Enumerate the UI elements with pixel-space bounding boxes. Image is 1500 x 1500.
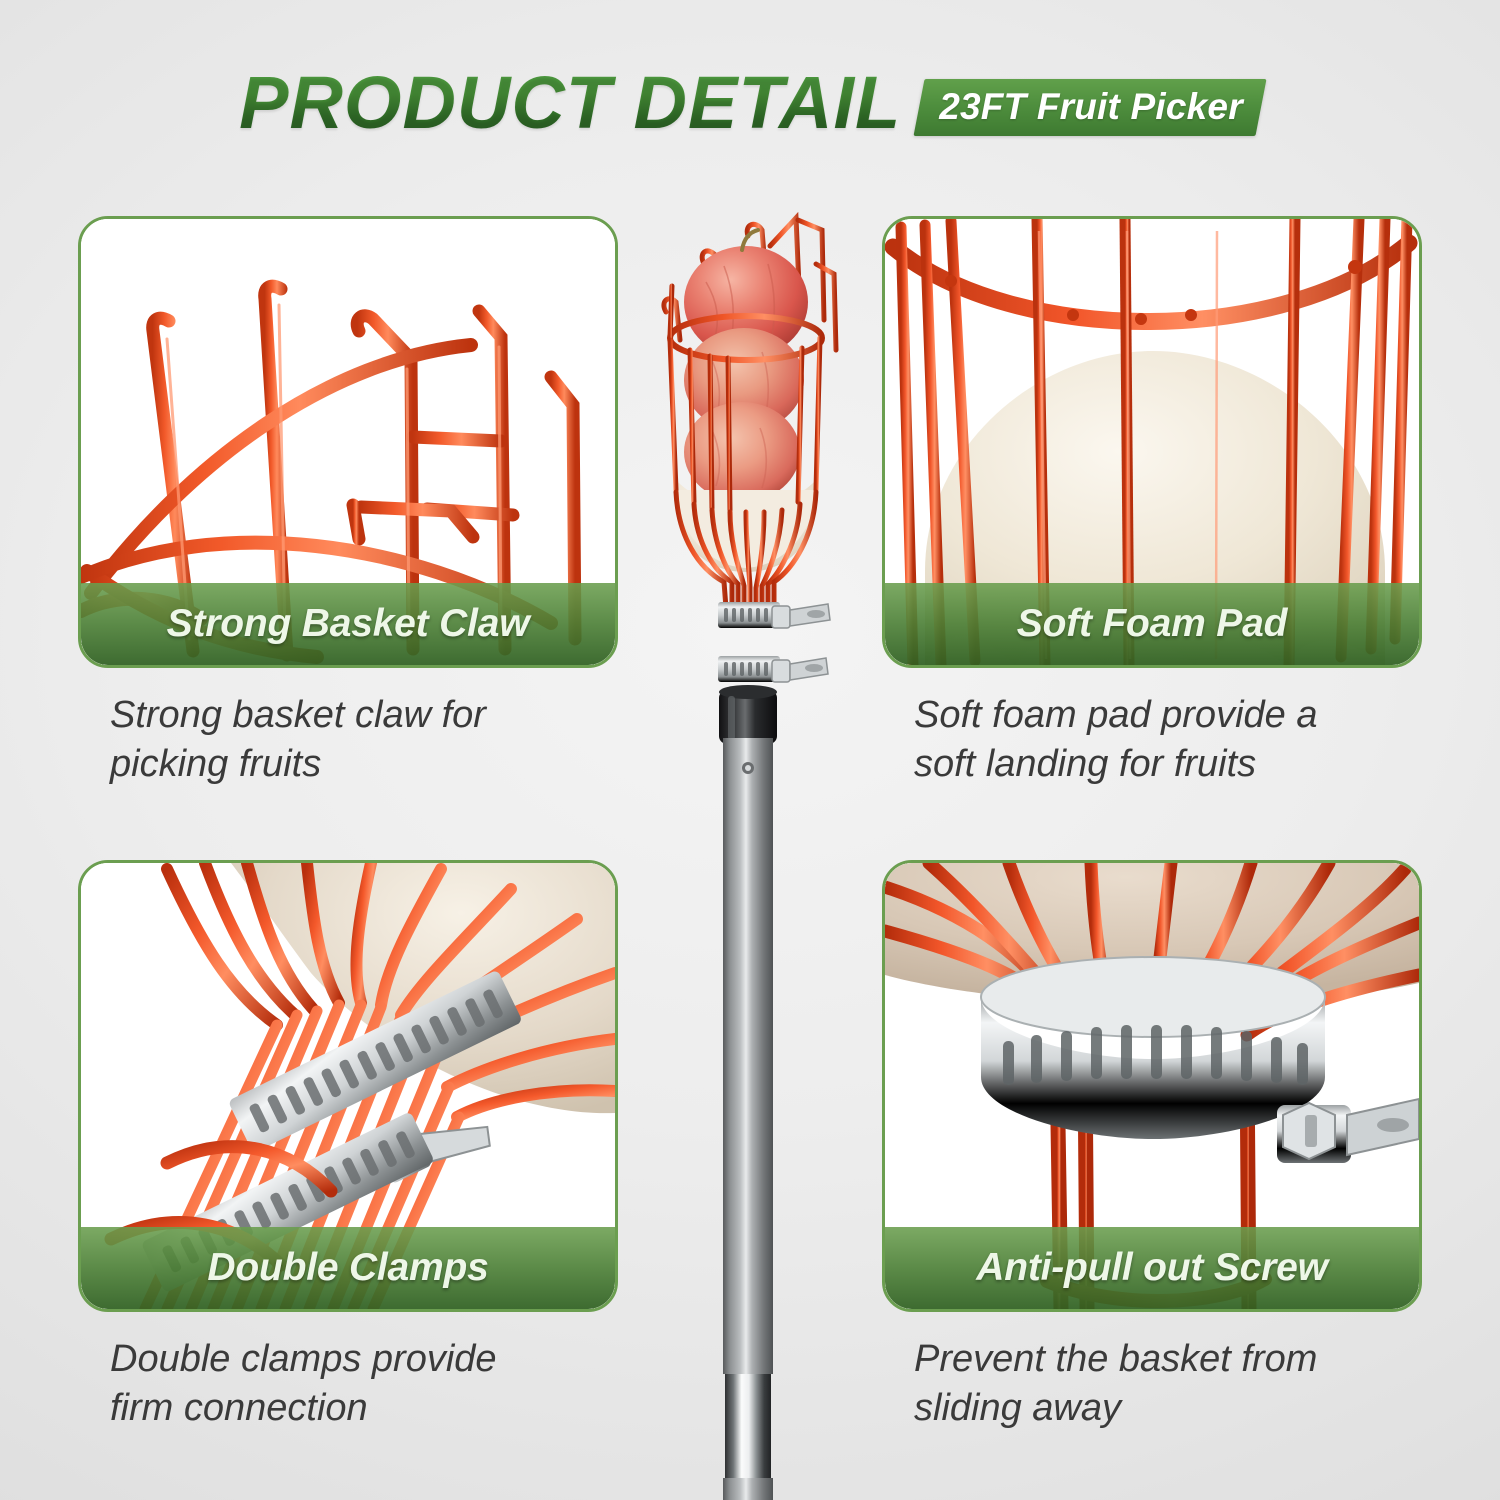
- product-image-fruit-picker: [620, 190, 880, 1500]
- page-header: PRODUCT DETAIL 23FT Fruit Picker: [0, 58, 1500, 148]
- feature-card-soft-foam-pad: Soft Foam Pad Soft foam pad provide a so…: [882, 216, 1422, 788]
- product-badge-label: 23FT Fruit Picker: [939, 88, 1243, 125]
- product-badge: 23FT Fruit Picker: [914, 79, 1267, 136]
- feature-description: Soft foam pad provide a soft landing for…: [882, 691, 1422, 788]
- feature-label-bar: Strong Basket Claw: [81, 583, 615, 665]
- feature-label-bar: Soft Foam Pad: [885, 583, 1419, 665]
- feature-description: Strong basket claw for picking fruits: [78, 691, 618, 788]
- feature-label-bar: Anti-pull out Screw: [885, 1227, 1419, 1309]
- feature-label: Anti-pull out Screw: [976, 1246, 1328, 1290]
- feature-panel: Strong Basket Claw: [78, 216, 618, 668]
- feature-card-strong-basket-claw: Strong Basket Claw Strong basket claw fo…: [78, 216, 618, 788]
- feature-panel: Double Clamps: [78, 860, 618, 1312]
- feature-label-bar: Double Clamps: [81, 1227, 615, 1309]
- feature-card-double-clamps: Double Clamps Double clamps provide firm…: [78, 860, 618, 1432]
- feature-description: Double clamps provide firm connection: [78, 1335, 618, 1432]
- feature-panel: Anti-pull out Screw: [882, 860, 1422, 1312]
- page-title: PRODUCT DETAIL: [239, 66, 905, 140]
- feature-card-anti-pull-screw: Anti-pull out Screw Prevent the basket f…: [882, 860, 1422, 1432]
- feature-panel: Soft Foam Pad: [882, 216, 1422, 668]
- feature-label: Soft Foam Pad: [1017, 602, 1287, 646]
- feature-label: Strong Basket Claw: [167, 602, 530, 646]
- feature-label: Double Clamps: [207, 1246, 488, 1290]
- feature-description: Prevent the basket from sliding away: [882, 1335, 1422, 1432]
